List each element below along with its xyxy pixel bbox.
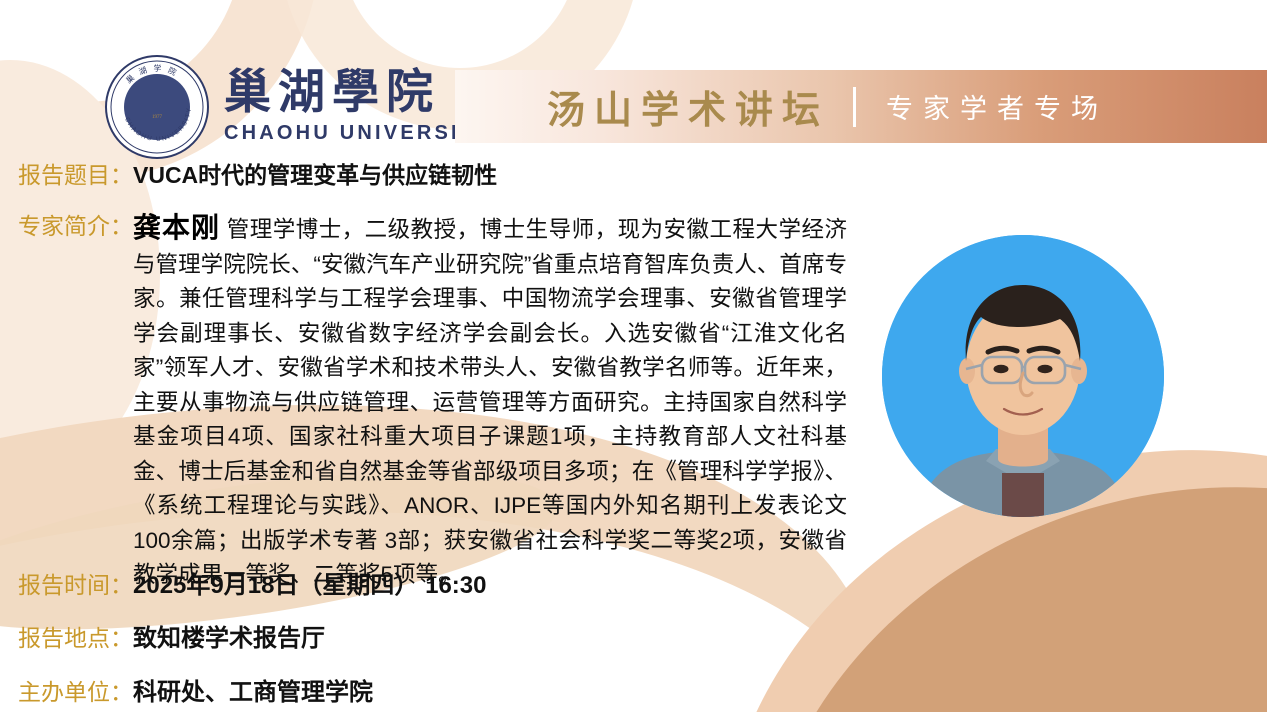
place-label: 报告地点：	[18, 623, 133, 654]
field-row-title: 报告题目： VUCA时代的管理变革与供应链韧性	[18, 160, 497, 191]
poster-root: 1977 巢 湖 学 院 CHAOHU UNIVERSITY 巢湖學院 CHAO…	[0, 0, 1267, 712]
title-value: VUCA时代的管理变革与供应链韧性	[133, 160, 497, 191]
time-value: 2025年9月18日（星期四） 16:30	[133, 570, 486, 602]
speaker-portrait-photo	[882, 235, 1164, 517]
place-value: 致知楼学术报告厅	[133, 623, 325, 655]
field-row-bio: 专家简介： 龚本刚 管理学博士，二级教授，博士生导师，现为安徽工程大学经济与管理…	[18, 211, 847, 593]
bio-label: 专家简介：	[18, 211, 133, 242]
title-label: 报告题目：	[18, 160, 133, 191]
field-row-time: 报告时间： 2025年9月18日（星期四） 16:30	[18, 570, 486, 602]
bio-body: 龚本刚 管理学博士，二级教授，博士生导师，现为安徽工程大学经济与管理学院院长、“…	[133, 211, 847, 593]
field-row-place: 报告地点： 致知楼学术报告厅	[18, 623, 325, 655]
time-label: 报告时间：	[18, 570, 133, 601]
speaker-portrait-illustration	[882, 235, 1164, 517]
host-value: 科研处、工商管理学院	[133, 677, 373, 709]
host-label: 主办单位：	[18, 677, 133, 708]
speaker-name: 龚本刚	[133, 212, 220, 243]
bio-text: 管理学博士，二级教授，博士生导师，现为安徽工程大学经济与管理学院院长、“安徽汽车…	[133, 217, 847, 587]
field-row-host: 主办单位： 科研处、工商管理学院	[18, 677, 373, 709]
